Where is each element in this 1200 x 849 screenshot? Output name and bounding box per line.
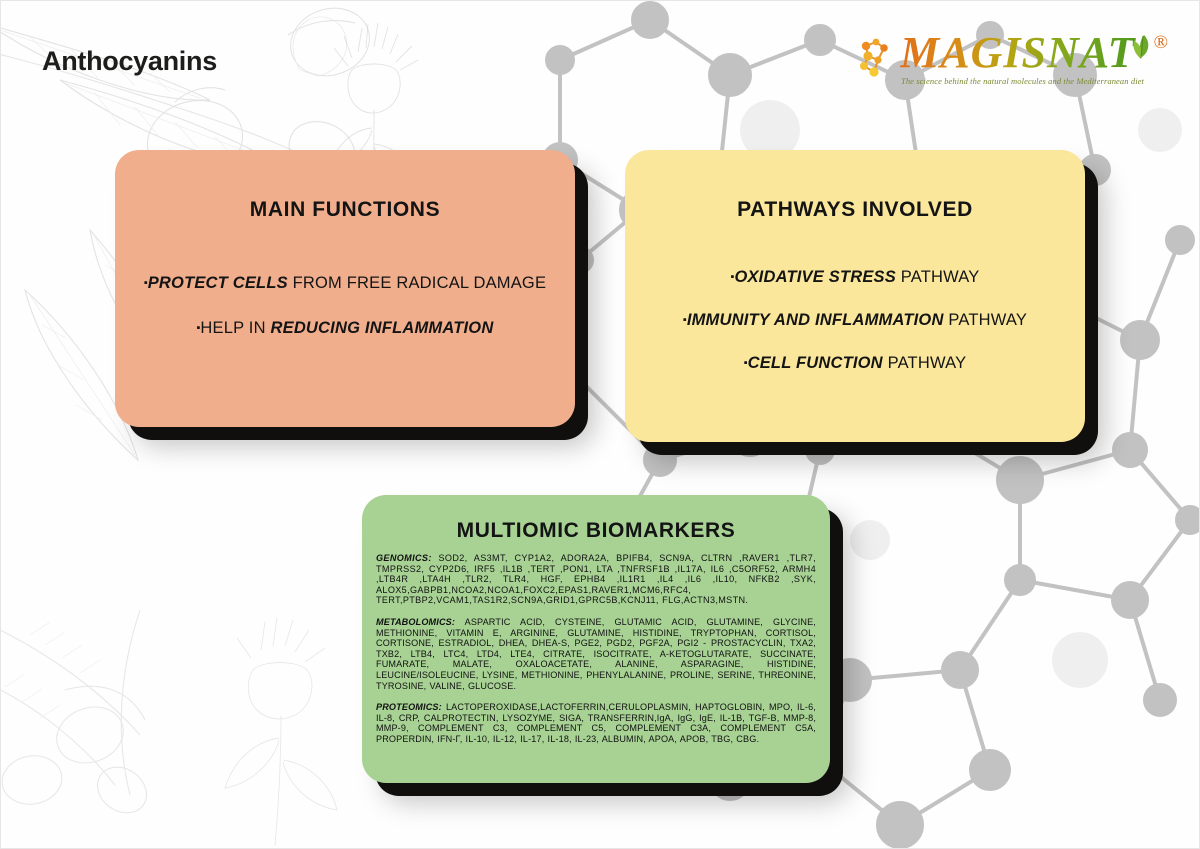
logo-tagline: The science behind the natural molecules… — [858, 76, 1144, 86]
omics-section-genomics: GENOMICS: SOD2, AS3MT, CYP1A2, ADORA2A, … — [376, 553, 816, 606]
leaf-icon — [1130, 32, 1152, 62]
molecule-cluster-icon — [858, 36, 898, 80]
card-pathways-involved: PATHWAYS INVOLVED ▪OXIDATIVE STRESS PATH… — [625, 150, 1085, 442]
card-title: PATHWAYS INVOLVED — [643, 198, 1067, 222]
bullet-item: ▪CELL FUNCTION PATHWAY — [643, 354, 1067, 373]
bullet-item: ▪PROTECT CELLS FROM FREE RADICAL DAMAGE — [133, 274, 557, 293]
bullet-rest: PATHWAY — [883, 354, 967, 372]
omics-label: GENOMICS: — [376, 553, 432, 563]
bullet-item: ▪HELP IN REDUCING INFLAMMATION — [133, 319, 557, 338]
card-title: MAIN FUNCTIONS — [133, 198, 557, 222]
omics-label: PROTEOMICS: — [376, 702, 442, 712]
omics-body: ASPARTIC ACID, CYSTEINE, GLUTAMIC ACID, … — [376, 617, 816, 691]
card-multiomic-biomarkers: MULTIOMIC BIOMARKERS GENOMICS: SOD2, AS3… — [362, 495, 830, 783]
bullet-emphasis: PROTECT CELLS — [148, 274, 288, 292]
omics-label: METABOLOMICS: — [376, 617, 455, 627]
omics-section-metabolomics: METABOLOMICS: ASPARTIC ACID, CYSTEINE, G… — [376, 617, 816, 691]
infographic-page: Anthocyanins MAGISNAT ® — [0, 0, 1200, 849]
bullet-emphasis: IMMUNITY AND INFLAMMATION — [687, 311, 944, 329]
bullet-lead: HELP IN — [200, 319, 270, 337]
bullet-rest: FROM FREE RADICAL DAMAGE — [288, 274, 546, 292]
omics-section-proteomics: PROTEOMICS: LACTOPEROXIDASE,LACTOFERRIN,… — [376, 702, 816, 744]
page-title: Anthocyanins — [42, 46, 217, 77]
bullet-emphasis: CELL FUNCTION — [748, 354, 883, 372]
registered-trademark-icon: ® — [1154, 32, 1168, 54]
card-main-functions: MAIN FUNCTIONS ▪PROTECT CELLS FROM FREE … — [115, 150, 575, 427]
bullet-emphasis: OXIDATIVE STRESS — [734, 268, 896, 286]
logo-wordmark: MAGISNAT — [900, 30, 1135, 76]
bullet-item: ▪OXIDATIVE STRESS PATHWAY — [643, 268, 1067, 287]
bullet-emphasis: REDUCING INFLAMMATION — [271, 319, 494, 337]
bullet-item: ▪IMMUNITY AND INFLAMMATION PATHWAY — [643, 311, 1067, 330]
card-title: MULTIOMIC BIOMARKERS — [376, 519, 816, 543]
omics-body: LACTOPEROXIDASE,LACTOFERRIN,CERULOPLASMI… — [376, 702, 816, 744]
bullet-rest: PATHWAY — [896, 268, 980, 286]
omics-body: SOD2, AS3MT, CYP1A2, ADORA2A, BPIFB4, SC… — [376, 553, 816, 605]
brand-logo: MAGISNAT ® The science behind the natura… — [858, 30, 1168, 86]
bullet-rest: PATHWAY — [944, 311, 1028, 329]
